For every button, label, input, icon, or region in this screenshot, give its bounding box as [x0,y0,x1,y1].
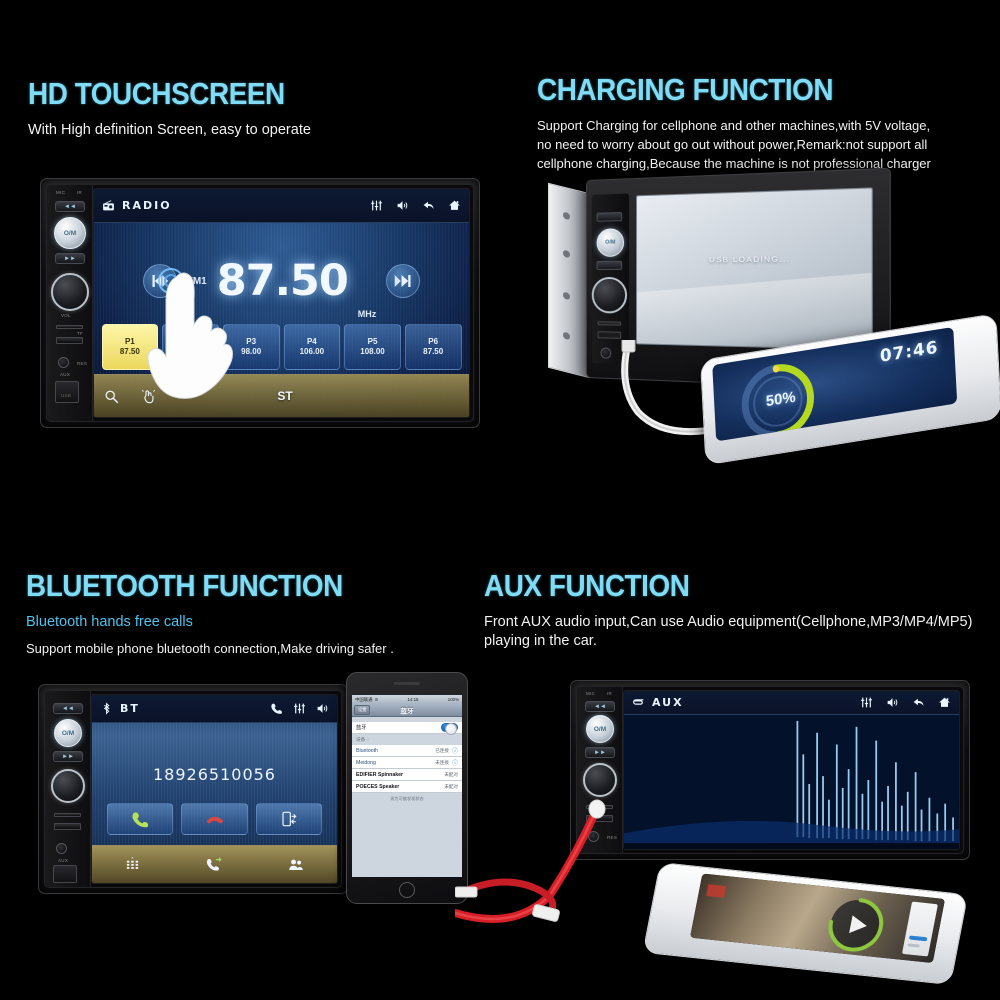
phone-clock: 07:46 [879,338,938,367]
sd-card-slot[interactable] [56,337,83,344]
bt-call-buttons [107,803,323,835]
bt-bottom-bar [92,845,337,883]
tf-card-slot[interactable] [56,325,83,329]
bt-usb-port[interactable] [53,865,77,883]
aux-next-button[interactable]: ►► [585,747,615,758]
iphone-screen[interactable]: 中国联通 ≋ 14:15 100% 设置 蓝牙 蓝牙 设备 ◌ Bluetoot… [352,695,462,877]
bt-screen-body: 18926510056 [92,723,337,883]
next-track-button[interactable]: ►► [55,253,85,264]
transfer-call-button[interactable] [256,803,323,835]
iphone-bluetooth-toggle-row[interactable]: 蓝牙 [352,722,462,734]
bt-sd-slot[interactable] [54,823,81,830]
device-name-3: POECES Speaker [356,784,399,790]
preset-button-2[interactable]: P2 90.00 [162,324,219,371]
aux-phone [642,862,968,985]
preset-button-4[interactable]: P4 106.00 [284,324,341,371]
device-status-0: 已连接 [435,748,449,754]
iphone-bluetooth-label: 蓝牙 [356,724,366,731]
iphone-devices-label: 设备 ◌ [352,734,462,745]
iphone-back-button[interactable]: 设置 [354,705,370,715]
usb-loading-text: USB LOADING... [637,253,872,264]
phone-answer-icon [131,811,148,828]
device-status-2: 未配对 [444,772,458,778]
aux-power-button[interactable]: O/M [586,715,614,743]
bt-next-button[interactable]: ►► [53,751,83,762]
volume-knob[interactable] [51,273,89,311]
preset-button-5[interactable]: P5 108.00 [344,324,401,371]
panel-title-bluetooth: BLUETOOTH FUNCTION [26,570,357,601]
radio-screen-title: RADIO [122,199,172,212]
panel-title-aux: AUX FUNCTION [484,570,948,601]
player-progress-ring[interactable] [819,891,893,959]
equalizer-icon[interactable] [860,696,873,709]
next-track-icon [394,274,412,288]
bluetooth-icon [100,702,113,715]
iphone-home-button[interactable] [399,882,415,898]
device-row-1[interactable]: Meidong 未连接 ⓘ [352,757,462,769]
charging-screen: USB LOADING... [636,187,873,350]
bt-prev-button[interactable]: ◄◄ [53,703,83,714]
radio-presets: P1 87.50 P2 90.00 P3 98.00 P4 106.00 [102,324,462,371]
radio-band-label: FM1 [187,276,207,287]
bt-tf-slot[interactable] [54,813,81,817]
bt-volume-knob[interactable] [51,769,85,803]
reset-label: RES [77,361,87,366]
preset-6-freq: 87.50 [423,347,443,357]
preset-5-name: P5 [368,337,378,347]
device-row-2[interactable]: EDIFIER Spinnaker 未配对 [352,769,462,781]
mounting-cage [548,183,590,378]
iphone-time: 14:15 [408,697,419,702]
mic-label: MIC [56,190,65,195]
iphone-bluetooth-settings: 中国联通 ≋ 14:15 100% 设置 蓝牙 蓝牙 设备 ◌ Bluetoot… [346,672,468,904]
aux-screen-title: AUX [652,696,684,709]
info-chevron-icon-0[interactable]: ⓘ [452,746,458,755]
charging-sd-slot[interactable] [598,331,622,339]
preset-4-name: P4 [307,337,317,347]
preset-4-freq: 106.00 [300,347,324,357]
iphone-earpiece [394,682,420,685]
stereo-indicator: ST [277,389,292,403]
info-chevron-icon-1[interactable]: ⓘ [452,758,458,767]
aux-icon [632,696,645,709]
bluetooth-toggle-switch[interactable] [441,723,458,732]
power-mode-button[interactable]: O/M [54,217,86,249]
device-status-3: 未配对 [444,784,458,790]
bluetooth-subtitle: Bluetooth hands free calls [26,612,394,634]
volume-icon[interactable] [886,696,899,709]
aux-ir-label: IR [607,691,612,696]
spinner-icon: ◌ [366,737,369,742]
keypad-icon[interactable] [125,857,140,872]
preset-1-freq: 87.50 [120,347,140,357]
panel-hd-touchscreen: HD TOUCHSCREEN With High definition Scre… [28,78,313,140]
charging-unit-left-panel: O/M [592,194,629,365]
iphone-carrier: 中国联通 [355,697,373,703]
charging-body-line-1: Support Charging for cellphone and other… [537,117,987,136]
iphone-nav-bar: 设置 蓝牙 [352,704,462,717]
iphone-discoverable-footer: 现为可被发现状态 [352,793,462,802]
device-name-0: Bluetooth [356,748,378,754]
radio-bottom-bar: ST [94,374,469,417]
volume-icon[interactable] [316,702,329,715]
wifi-icon: ≋ [375,697,379,703]
bluetooth-screen[interactable]: BT [91,694,338,884]
radio-icon [102,199,115,212]
aux-screen-header: AUX [624,691,959,715]
preset-1-name: P1 [125,337,135,347]
back-icon[interactable] [422,199,435,212]
bt-screen-title: BT [120,702,140,715]
bluetooth-head-unit: ◄◄ O/M ►► AUX BT [38,684,348,894]
phone-transfer-icon [281,811,297,827]
end-call-button[interactable] [181,803,248,835]
bt-aux-jack[interactable] [56,843,67,854]
radio-head-unit: MIC IR ◄◄ O/M ►► VOL TF RES AUX USB [40,178,480,428]
preset-button-1[interactable]: P1 87.50 [102,324,159,371]
panel-title-hd: HD TOUCHSCREEN [28,78,285,109]
usb-label: USB [61,393,71,398]
bt-screen-header: BT [92,695,337,723]
equalizer-icon[interactable] [370,199,383,212]
radio-screen-header: RADIO [94,189,469,223]
preset-5-freq: 108.00 [360,347,384,357]
panel-title-charging: CHARGING FUNCTION [537,74,942,105]
iphone-status-bar: 中国联通 ≋ 14:15 100% [352,695,462,704]
charging-power-button[interactable]: O/M [597,228,624,257]
aux-mic-label: MIC [586,691,595,696]
panel-charging: CHARGING FUNCTION Support Charging for c… [537,74,987,174]
usb-port[interactable]: USB [55,381,79,403]
call-icon[interactable] [270,702,283,715]
prev-track-button[interactable]: ◄◄ [55,201,85,212]
answer-call-button[interactable] [107,803,174,835]
charging-prev-button[interactable] [597,212,622,222]
aux-label: AUX [60,372,70,377]
search-icon[interactable] [104,389,119,404]
bluetooth-body: Support mobile phone bluetooth connectio… [26,640,394,659]
bt-power-button[interactable]: O/M [54,719,82,747]
radio-frequency-row: FM1 87.50 MHz [94,235,469,328]
iphone-nav-title: 蓝牙 [401,705,414,715]
radio-frequency-value: 87.50 [217,256,348,306]
back-icon[interactable] [912,696,925,709]
aux-volume-knob[interactable] [583,763,617,797]
equalizer-icon[interactable] [293,702,306,715]
next-station-button[interactable] [386,264,420,298]
devices-label-text: 设备 [356,737,365,742]
radio-unit-left-panel: MIC IR ◄◄ O/M ►► VOL TF RES AUX USB [47,185,93,421]
touch-ripple-inner [164,274,178,288]
home-icon[interactable] [448,199,461,212]
aux-jack[interactable] [58,357,69,368]
preset-2-name: P2 [186,337,196,347]
preset-button-3[interactable]: P3 98.00 [223,324,280,371]
device-row-3[interactable]: POECES Speaker 未配对 [352,781,462,793]
aux-prev-button[interactable]: ◄◄ [585,701,615,712]
device-name-2: EDIFIER Spinnaker [356,772,403,778]
preset-2-freq: 90.00 [180,347,200,357]
home-icon[interactable] [938,696,951,709]
radio-screen-body: FM1 87.50 MHz P1 87.50 [94,223,469,417]
charging-volume-knob[interactable] [592,277,627,314]
device-status-1: 未连接 [435,760,449,766]
volume-icon[interactable] [396,199,409,212]
panel-subtitle-hd: With High definition Screen, easy to ope… [28,121,313,140]
preset-3-name: P3 [246,337,256,347]
ir-label: IR [77,190,82,195]
charging-tf-slot[interactable] [598,321,622,325]
bt-aux-label: AUX [58,858,68,863]
dialed-number: 18926510056 [92,765,337,784]
tf-label: TF [77,331,83,336]
preset-6-name: P6 [428,337,438,347]
device-row-0[interactable]: Bluetooth 已连接 ⓘ [352,745,462,757]
call-log-icon[interactable] [206,857,222,872]
scan-touch-icon[interactable] [141,389,156,404]
preset-button-6[interactable]: P6 87.50 [405,324,462,371]
iphone-battery: 100% [448,697,459,702]
panel-bluetooth: BLUETOOTH FUNCTION Bluetooth hands free … [26,570,394,659]
aux-body-line-2: playing in the car. [484,632,1000,651]
contacts-icon[interactable] [288,857,304,872]
panel-aux: AUX FUNCTION Front AUX audio input,Can u… [484,570,1000,651]
device-name-1: Meidong [356,760,376,766]
charging-body-line-2: no need to worry about go out without po… [537,136,987,155]
charging-body-line-3: cellphone charging,Because the machine i… [537,155,987,174]
aux-body-line-1: Front AUX audio input,Can use Audio equi… [484,613,1000,632]
preset-3-freq: 98.00 [241,347,261,357]
phone-hangup-icon [206,812,224,826]
radio-screen[interactable]: RADIO [93,188,470,418]
volume-label: VOL [61,313,71,318]
bt-unit-left-panel: ◄◄ O/M ►► AUX [45,691,91,887]
charging-next-button[interactable] [597,261,622,270]
